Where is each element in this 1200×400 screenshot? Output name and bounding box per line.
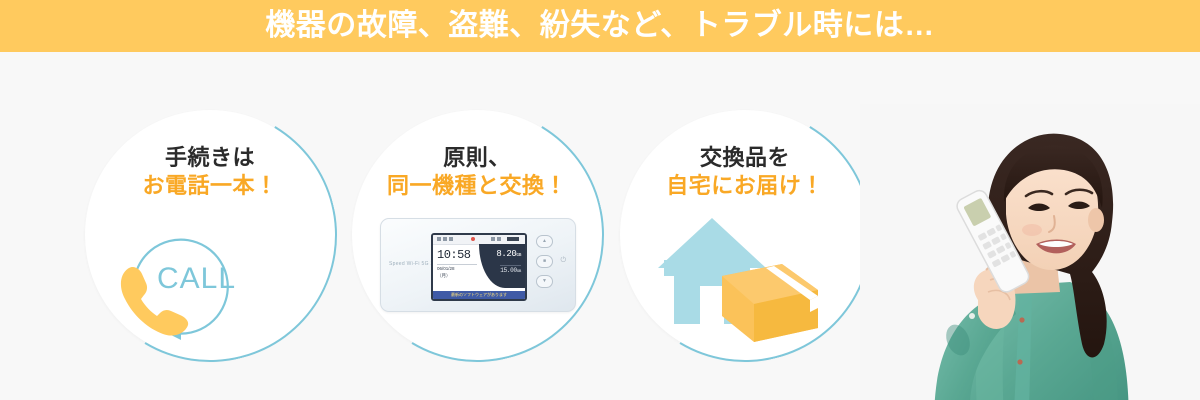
feature-call-icon-well: CALL xyxy=(85,210,335,350)
promo-banner: 機器の故障、盗難、紛失など、トラブル時には… 手続きは お電話一本！ xyxy=(0,0,1200,400)
feature-home-delivery-text: 交換品を 自宅にお届け！ xyxy=(620,144,870,199)
router-date-value: 06/01/28 xyxy=(437,266,455,271)
package-shape xyxy=(722,264,818,342)
router-data-used-unit: GB xyxy=(516,253,521,258)
feature-call-line-bottom: お電話一本！ xyxy=(85,172,335,200)
router-screen: 10:58 06/01/28 （月） 8.20GB 15.00GB 最新のソフト… xyxy=(431,233,527,301)
power-icon: ⏻ xyxy=(560,257,566,264)
router-data-total-value: 15.00 xyxy=(500,267,517,274)
router-data-used-value: 8.20 xyxy=(496,249,516,259)
router-data-total: 15.00GB xyxy=(500,265,521,274)
feature-home-delivery-line-top: 交換品を xyxy=(620,144,870,172)
header-bar: 機器の故障、盗難、紛失など、トラブル時には… xyxy=(0,0,1200,52)
house-and-package-icon xyxy=(650,212,830,342)
mobile-router-icon: Speed Wi-Fi 5G X12 10:58 xyxy=(380,218,576,312)
router-date: 06/01/28 （月） xyxy=(437,264,477,280)
router-data-total-unit: GB xyxy=(517,270,521,274)
router-data-used: 8.20GB xyxy=(496,249,521,259)
page-title: 機器の故障、盗難、紛失など、トラブル時には… xyxy=(265,11,935,41)
router-button-select[interactable]: ■ xyxy=(536,255,553,268)
feature-call-text: 手続きは お電話一本！ xyxy=(85,144,335,199)
feature-home-delivery-line-bottom: 自宅にお届け！ xyxy=(620,172,870,200)
router-button-down[interactable]: ▼ xyxy=(536,275,553,288)
router-ticker: 最新のソフトウェアがあります xyxy=(433,291,525,299)
router-button-up[interactable]: ▲ xyxy=(536,235,553,248)
feature-same-model-line-bottom: 同一機種と交換！ xyxy=(352,172,602,200)
feature-same-model-line-top: 原則、 xyxy=(352,144,602,172)
feature-home-delivery-icon-well xyxy=(620,210,870,350)
feature-same-model-text: 原則、 同一機種と交換！ xyxy=(352,144,602,199)
feature-circle-same-model: 原則、 同一機種と交換！ Speed Wi-Fi 5G X12 xyxy=(352,110,602,360)
feature-same-model-icon-well: Speed Wi-Fi 5G X12 10:58 xyxy=(352,210,602,350)
router-weekday-value: （月） xyxy=(437,273,451,278)
woman-on-phone-photo xyxy=(860,104,1200,400)
call-icon: CALL xyxy=(107,214,257,346)
content-area: 手続きは お電話一本！ CALL xyxy=(0,52,1200,400)
router-time: 10:58 xyxy=(437,248,471,262)
feature-circle-home-delivery: 交換品を 自宅にお届け！ xyxy=(620,110,870,360)
feature-call-line-top: 手続きは xyxy=(85,144,335,172)
feature-circle-call: 手続きは お電話一本！ CALL xyxy=(85,110,335,360)
call-icon-label: CALL xyxy=(157,262,253,296)
